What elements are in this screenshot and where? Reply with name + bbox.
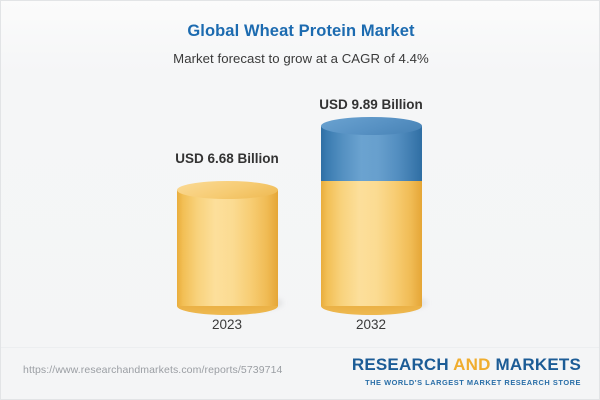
chart-footer: https://www.researchandmarkets.com/repor… (1, 347, 600, 399)
bar-segment-base-2023 (177, 181, 278, 306)
chart-card: Global Wheat Protein Market Market forec… (0, 0, 600, 400)
report-url[interactable]: https://www.researchandmarkets.com/repor… (23, 364, 282, 376)
bar-segment-growth-2032 (321, 117, 422, 181)
cylinder-body-2023 (177, 190, 278, 306)
bar-value-label-2023: USD 6.68 Billion (152, 151, 302, 166)
bar-segment-base-2032 (321, 181, 422, 306)
bar-2023[interactable] (177, 171, 278, 306)
logo-text-research: RESEARCH (352, 355, 453, 374)
cylinder-top-cap-2032 (321, 117, 422, 135)
cylinder-body-base-2032 (321, 181, 422, 306)
bar-2032[interactable] (321, 116, 422, 306)
research-and-markets-logo[interactable]: RESEARCH AND MARKETS THE WORLD'S LARGEST… (352, 356, 581, 387)
logo-text-markets: MARKETS (491, 355, 581, 374)
logo-tagline: THE WORLD'S LARGEST MARKET RESEARCH STOR… (352, 378, 581, 387)
x-axis-label-2032: 2032 (296, 317, 446, 332)
x-axis-label-2023: 2023 (152, 317, 302, 332)
logo-wordmark: RESEARCH AND MARKETS (352, 356, 581, 375)
cylinder-top-cap-2023 (177, 181, 278, 199)
logo-text-and: AND (453, 355, 490, 374)
chart-plot-area: USD 6.68 Billion USD 9.89 Billion 2023 (1, 1, 600, 346)
bar-value-label-2032: USD 9.89 Billion (296, 97, 446, 112)
